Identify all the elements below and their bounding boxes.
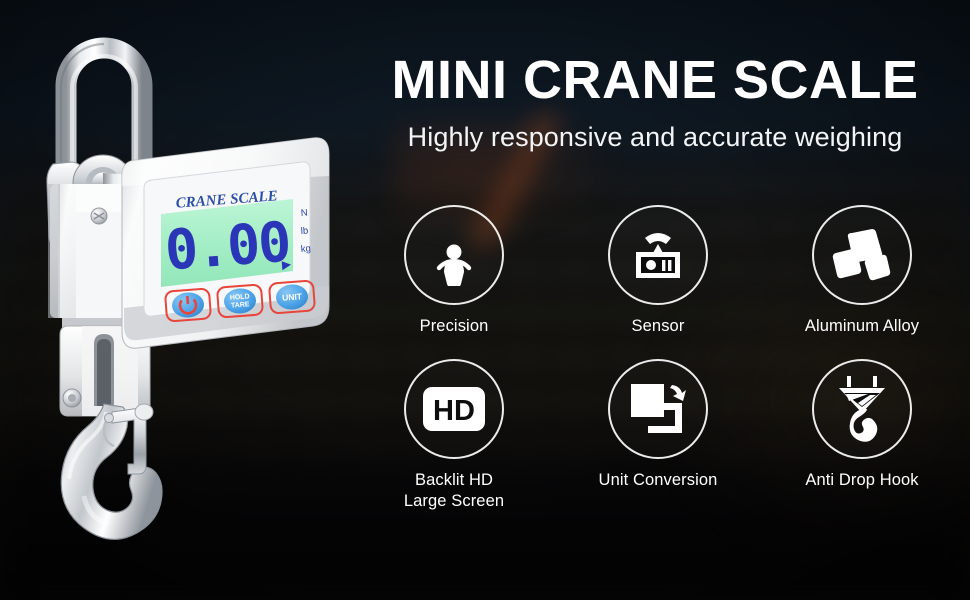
product-image: CRANE SCALE 0.00 N lb kg xyxy=(20,8,350,596)
safety-hook xyxy=(61,404,162,539)
hd-badge-icon: HD xyxy=(404,359,504,459)
feature-backlit-hd: HD Backlit HD Large Screen xyxy=(352,359,556,512)
precision-waves-icon xyxy=(404,205,504,305)
headings-block: MINI CRANE SCALE Highly responsive and a… xyxy=(352,52,958,153)
feature-grid: Precision Sensor xyxy=(352,205,964,512)
feature-label-line2: Large Screen xyxy=(404,492,504,510)
feature-label: Unit Conversion xyxy=(599,470,718,491)
display-module: CRANE SCALE 0.00 N lb kg xyxy=(122,138,329,348)
unit-swap-icon xyxy=(608,359,708,459)
lcd-value: 0.00 xyxy=(163,210,292,283)
feature-label: Backlit HD Large Screen xyxy=(404,470,504,512)
feature-label: Anti Drop Hook xyxy=(805,470,918,491)
feature-label: Sensor xyxy=(632,316,685,337)
svg-text:HD: HD xyxy=(433,395,475,427)
unit-N: N xyxy=(300,208,308,219)
feature-aluminum-alloy: Aluminum Alloy xyxy=(760,205,964,337)
svg-text:TARE: TARE xyxy=(231,301,250,309)
feature-unit-conversion: Unit Conversion xyxy=(556,359,760,512)
feature-label: Aluminum Alloy xyxy=(805,316,919,337)
feature-label: Precision xyxy=(420,316,489,337)
product-banner: CRANE SCALE 0.00 N lb kg xyxy=(0,0,970,600)
feature-precision: Precision xyxy=(352,205,556,337)
sensor-device-icon xyxy=(608,205,708,305)
crane-hook-icon xyxy=(812,359,912,459)
metal-ingots-icon xyxy=(812,205,912,305)
unit-lb: lb xyxy=(300,225,308,237)
feature-label-line1: Backlit HD xyxy=(415,471,493,489)
feature-sensor: Sensor xyxy=(556,205,760,337)
unit-kg: kg xyxy=(300,243,311,255)
feature-anti-drop-hook: Anti Drop Hook xyxy=(760,359,964,512)
svg-text:HOLD: HOLD xyxy=(230,293,250,301)
page-title: MINI CRANE SCALE xyxy=(352,52,958,108)
page-subtitle: Highly responsive and accurate weighing xyxy=(352,122,958,153)
lcd-screen: 0.00 xyxy=(161,199,293,287)
svg-text:UNIT: UNIT xyxy=(282,291,303,302)
